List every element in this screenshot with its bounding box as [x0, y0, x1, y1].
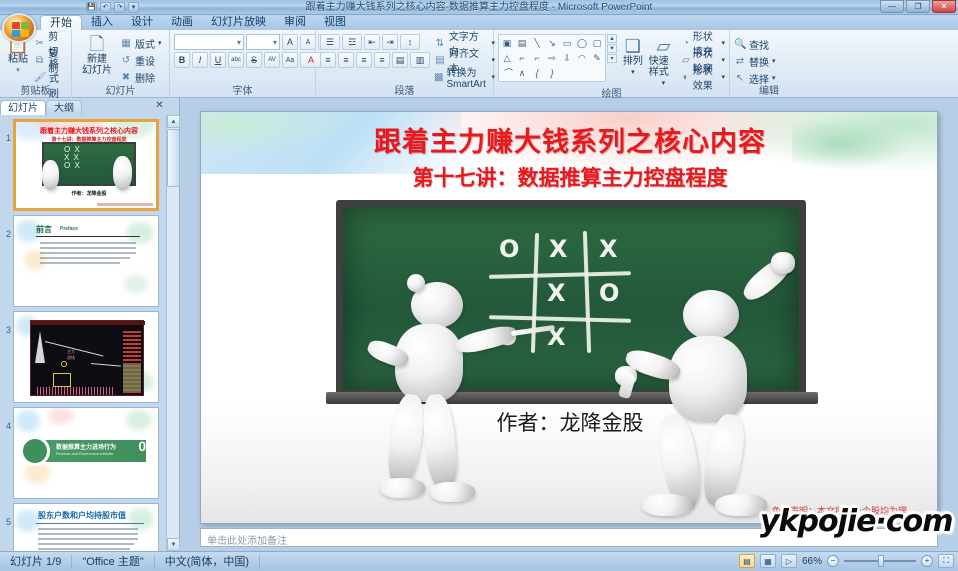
- list-item[interactable]: 1 跟着主力赚大钱系列之核心内容 第十七讲：数据推算主力控盘程度 O XX XO…: [0, 117, 167, 213]
- thumbnail-figure-left: [42, 160, 59, 190]
- shape-fill-icon: ◔: [682, 38, 690, 49]
- distribute-button[interactable]: ▤: [392, 52, 408, 68]
- thumbnail-number: 5: [2, 503, 13, 527]
- list-item[interactable]: 4 数据推算主力进场行为 Finance and Economics websi…: [0, 405, 167, 501]
- scrollbar-thumb[interactable]: [167, 129, 180, 187]
- quick-styles-button[interactable]: ▱ 快速样式 ▾: [649, 34, 678, 89]
- thumbnail-text-line: [40, 257, 130, 259]
- thumbnail-slide-5[interactable]: 股东户数和户均持股市值: [13, 503, 159, 551]
- bold-button[interactable]: B: [174, 52, 190, 68]
- scissors-icon: ✂: [34, 38, 45, 49]
- theme-name[interactable]: "Office 主题": [72, 555, 154, 569]
- shapes-scroll[interactable]: ▲ ▼ ▾: [607, 34, 617, 82]
- thumbnail-text-line: [40, 252, 136, 254]
- watermark-text: ykpojie·com: [760, 504, 953, 539]
- shape-oval-icon[interactable]: ◯: [575, 36, 589, 50]
- fit-to-window-button[interactable]: ⛶: [938, 554, 954, 568]
- font-name-combo[interactable]: ▾: [174, 34, 244, 50]
- shape-down-arrow-icon[interactable]: ⇩: [560, 51, 574, 65]
- view-slide-sorter-button[interactable]: ▦: [760, 554, 776, 568]
- thumbnail-title-2: Preface: [60, 226, 78, 232]
- bullets-button[interactable]: ☰: [320, 34, 340, 50]
- font-size-combo[interactable]: ▾: [246, 34, 280, 50]
- thumbnail-number: 3: [2, 311, 13, 335]
- shape-elbow2-icon[interactable]: ⌐: [530, 51, 544, 65]
- shape-effects-icon: ◐: [682, 72, 690, 83]
- shape-arrow-icon[interactable]: ↘: [545, 36, 559, 50]
- find-label: 查找: [749, 37, 769, 52]
- decor-blob: [126, 222, 154, 244]
- paragraph-group-label: 段落: [320, 86, 489, 98]
- decor-blob: [128, 508, 154, 530]
- thumbnail-title-2: Finance and Economics website: [56, 451, 113, 456]
- delete-slide-button[interactable]: ✖ 删除: [120, 69, 162, 85]
- replace-label: 替换: [749, 54, 769, 69]
- decor-blob: [48, 408, 74, 424]
- shape-cloud-icon[interactable]: ◠: [575, 51, 589, 65]
- view-normal-button[interactable]: ▤: [739, 554, 755, 568]
- thumbnail-number: 1: [2, 119, 13, 143]
- shape-triangle-icon[interactable]: △: [500, 51, 514, 65]
- shape-right-arrow-icon[interactable]: ⇨: [545, 51, 559, 65]
- thumbnail-slide-3[interactable]: 主力进场: [13, 311, 159, 403]
- mark-x-1: X: [549, 237, 568, 261]
- thumbnail-text-line: [40, 242, 136, 244]
- shape-elbow-icon[interactable]: ⌐: [515, 51, 529, 65]
- thumbnail-stock-chart: 主力进场: [30, 320, 144, 396]
- strikethrough-button[interactable]: S: [246, 52, 262, 68]
- list-item[interactable]: 3 主力进场: [0, 309, 167, 405]
- minimize-button[interactable]: —: [880, 0, 904, 13]
- pane-tab-outline[interactable]: 大纲: [46, 100, 82, 115]
- shape-rectangle-icon[interactable]: ▭: [560, 36, 574, 50]
- shapes-more-icon[interactable]: ▾: [607, 54, 617, 63]
- new-slide-label-1: 新建: [87, 54, 107, 65]
- shape-outline-icon: ▱: [682, 55, 690, 66]
- slides-group-label: 幻灯片: [76, 86, 165, 98]
- layout-label: 版式: [135, 36, 155, 51]
- align-text-icon: ▤: [434, 55, 446, 66]
- window-controls: — ❐ ✕: [880, 0, 956, 13]
- maximize-button[interactable]: ❐: [906, 0, 930, 13]
- language-indicator[interactable]: 中文(简体，中国): [155, 555, 260, 569]
- smartart-icon: ▩: [434, 72, 443, 83]
- ribbon-group-drawing: ▣ ▤ ╲ ↘ ▭ ◯ ▢ △ ⌐ ⌐ ⇨ ⇩ ◠ ✎ ⌒: [494, 30, 730, 98]
- underline-button[interactable]: U: [210, 52, 226, 68]
- character-right: [611, 262, 796, 517]
- select-label: 选择: [749, 71, 769, 86]
- new-slide-label-2: 幻灯片: [82, 65, 112, 76]
- status-bar: 幻灯片 1/9 "Office 主题" 中文(简体，中国) ▤ ▦ ▷ 66% …: [0, 551, 958, 571]
- office-logo-icon: [12, 22, 29, 37]
- quick-styles-icon: ▱: [656, 36, 670, 56]
- tab-insert[interactable]: 插入: [82, 15, 122, 30]
- mark-x-2: X: [547, 281, 566, 305]
- align-right-button[interactable]: ≡: [356, 52, 372, 68]
- thumbnail-title-1: 股东户数和户均持股市值: [38, 510, 126, 521]
- ribbon-group-editing: 🔍 查找 ⇄ 替换 ▾ ↖ 选择 ▾ 编辑: [730, 30, 808, 98]
- shape-left-brace-icon[interactable]: {: [530, 66, 544, 80]
- arrange-icon: ❏: [625, 36, 641, 56]
- thumbnail-list[interactable]: 1 跟着主力赚大钱系列之核心内容 第十七讲：数据推算主力控盘程度 O XX XO…: [0, 115, 167, 551]
- thumbnail-text-line: [38, 533, 138, 535]
- line-spacing-button[interactable]: ↕: [400, 34, 420, 50]
- pane-tab-slides[interactable]: 幻灯片: [0, 100, 46, 115]
- reset-label: 重设: [135, 53, 155, 68]
- shape-square-icon[interactable]: ▢: [590, 36, 604, 50]
- zoom-in-button[interactable]: +: [921, 555, 933, 567]
- ribbon-group-font: ▾ ▾ A A ✦ B I U abc S AV Aa A 字体: [170, 30, 316, 98]
- close-button[interactable]: ✕: [932, 0, 956, 13]
- slide-edit-area: 跟着主力赚大钱系列之核心内容 第十七讲：数据推算主力控盘程度 O X X X O…: [180, 98, 958, 551]
- reset-icon: ↺: [120, 55, 132, 66]
- scroll-up-icon[interactable]: ▲: [167, 115, 180, 128]
- reset-button[interactable]: ↺ 重设: [120, 52, 162, 68]
- paste-label: 粘贴: [8, 54, 28, 65]
- slides-pane: 幻灯片 大纲 ✕ 1 跟着主力赚大钱系列之核心内容 第十七讲：数据推算主力控盘程…: [0, 98, 180, 551]
- tab-design[interactable]: 设计: [122, 15, 162, 30]
- align-left-button[interactable]: ≡: [320, 52, 336, 68]
- layout-icon: ▦: [120, 38, 132, 49]
- window-title: 跟着主力赚大钱系列之核心内容-数据推算主力控盘程度 - Microsoft Po…: [0, 0, 958, 15]
- ribbon-group-slides: 🗋 新建 幻灯片 ▦ 版式 ▾ ↺ 重设 ✖: [72, 30, 170, 98]
- convert-smartart-button[interactable]: ▩ 转换为 SmartArt ▾: [434, 69, 495, 85]
- shape-right-brace-icon[interactable]: }: [545, 66, 559, 80]
- copy-icon: ⧉: [34, 55, 45, 66]
- pane-tab-strip: 幻灯片 大纲 ✕: [0, 98, 180, 115]
- clipboard-group-label: 剪贴板: [4, 86, 67, 98]
- layout-button[interactable]: ▦ 版式 ▾: [120, 35, 162, 51]
- ribbon-tabs: 开始 插入 设计 动画 幻灯片放映 审阅 视图: [40, 15, 355, 30]
- character-left: [351, 282, 511, 517]
- numbering-button[interactable]: ☲: [342, 34, 362, 50]
- text-direction-icon: ⇅: [434, 38, 446, 49]
- format-painter-button[interactable]: 🖌 格式刷: [34, 69, 67, 85]
- thumbnail-slide-2[interactable]: 前言 Preface: [13, 215, 159, 307]
- slide-title-main[interactable]: 跟着主力赚大钱系列之核心内容: [201, 120, 938, 159]
- replace-icon: ⇄: [734, 56, 746, 67]
- text-shadow-button[interactable]: abc: [228, 52, 244, 68]
- view-slideshow-button[interactable]: ▷: [781, 554, 797, 568]
- tab-slideshow[interactable]: 幻灯片放映: [202, 15, 275, 30]
- mark-x-3: X: [599, 237, 618, 261]
- shape-chevron-icon[interactable]: ∧: [515, 66, 529, 80]
- decor-blob: [126, 410, 152, 430]
- current-slide[interactable]: 跟着主力赚大钱系列之核心内容 第十七讲：数据推算主力控盘程度 O X X X O…: [200, 111, 938, 524]
- shapes-scroll-down-icon[interactable]: ▼: [607, 44, 617, 53]
- new-slide-icon: 🗋: [90, 34, 104, 54]
- columns-button[interactable]: ▥: [410, 52, 430, 68]
- gear-icon: [20, 436, 50, 466]
- thumbnail-figure-right: [113, 156, 132, 190]
- close-pane-icon[interactable]: ✕: [153, 99, 166, 112]
- find-button[interactable]: 🔍 查找: [734, 36, 776, 52]
- thumbnail-section-number: 01: [138, 439, 154, 453]
- thumbnail-slide-4[interactable]: 数据推算主力进场行为 Finance and Economics website…: [13, 407, 159, 499]
- shape-line-icon[interactable]: ╲: [530, 36, 544, 50]
- thumbnail-text-line: [38, 528, 138, 530]
- tab-review[interactable]: 审阅: [275, 15, 315, 30]
- italic-button[interactable]: I: [192, 52, 208, 68]
- thumbnail-disclaimer: [97, 203, 153, 206]
- thumbnail-text-line: [38, 538, 138, 540]
- thumbnail-blackboard-marks: O XX XO X: [64, 146, 81, 170]
- justify-button[interactable]: ≡: [374, 52, 390, 68]
- thumbnail-text-line: [38, 548, 130, 550]
- scroll-down-icon[interactable]: ▼: [167, 538, 180, 551]
- editing-group-label: 编辑: [734, 86, 804, 98]
- chevron-down-icon[interactable]: ▾: [128, 2, 139, 13]
- slide-author-text[interactable]: 作者：龙降金股: [201, 407, 938, 437]
- shape-rect-picture-icon[interactable]: ▣: [500, 36, 514, 50]
- zoom-out-button[interactable]: −: [827, 555, 839, 567]
- redo-icon[interactable]: ↷: [114, 2, 125, 13]
- title-bar: 跟着主力赚大钱系列之核心内容-数据推算主力控盘程度 - Microsoft Po…: [0, 0, 958, 15]
- find-icon: 🔍: [734, 39, 746, 50]
- shape-freeform-icon[interactable]: ✎: [590, 51, 604, 65]
- pane-scrollbar[interactable]: ▲ ▼: [166, 115, 179, 551]
- thumbnail-text-line: [38, 543, 134, 545]
- change-case-button[interactable]: Aa: [282, 52, 298, 68]
- thumbnail-text-line: [40, 262, 120, 264]
- office-button[interactable]: [2, 13, 36, 43]
- tab-animations[interactable]: 动画: [162, 15, 202, 30]
- status-bar-right: ▤ ▦ ▷ 66% − + ⛶: [739, 554, 954, 568]
- shape-effects-label: 形状效果: [693, 62, 719, 92]
- quick-access-toolbar: 💾 ↶ ↷ ▾: [86, 1, 139, 14]
- thumbnail-title-1: 前言: [36, 224, 52, 235]
- thumbnail-text-line: [40, 247, 136, 249]
- decor-blob: [16, 510, 40, 532]
- list-item[interactable]: 2 前言 Preface: [0, 213, 167, 309]
- slide-counter: 幻灯片 1/9: [0, 555, 72, 569]
- shape-effects-button[interactable]: ◐ 形状效果 ▾: [682, 69, 725, 85]
- shapes-scroll-up-icon[interactable]: ▲: [607, 34, 617, 43]
- undo-icon[interactable]: ↶: [100, 2, 111, 13]
- character-spacing-button[interactable]: AV: [264, 52, 280, 68]
- paintbrush-icon: 🖌: [34, 72, 46, 83]
- thumbnail-author: 作者：龙降金股: [16, 190, 159, 197]
- align-center-button[interactable]: ≡: [338, 52, 354, 68]
- decor-blob: [16, 410, 40, 432]
- save-icon[interactable]: 💾: [86, 2, 97, 13]
- quick-styles-label: 快速样式: [649, 56, 678, 78]
- shape-textbox-icon[interactable]: ▤: [515, 36, 529, 50]
- replace-button[interactable]: ⇄ 替换 ▾: [734, 53, 776, 69]
- thumbnail-number: 2: [2, 215, 13, 239]
- arrange-button[interactable]: ❏ 排列 ▾: [621, 34, 645, 78]
- tab-view[interactable]: 视图: [315, 15, 355, 30]
- list-item[interactable]: 5 股东户数和户均持股市值: [0, 501, 167, 551]
- new-slide-button[interactable]: 🗋 新建 幻灯片: [76, 32, 118, 76]
- thumbnail-title-1: 跟着主力赚大钱系列之核心内容: [16, 126, 159, 136]
- delete-icon: ✖: [120, 72, 132, 83]
- select-button[interactable]: ↖ 选择 ▾: [734, 70, 776, 86]
- ribbon-group-paragraph: ☰ ☲ ⇤ ⇥ ↕ ≡ ≡ ≡ ≡ ▤ ▥: [316, 30, 494, 98]
- mark-o-1: O: [499, 237, 519, 261]
- font-group-label: 字体: [174, 86, 311, 98]
- zoom-percent-label: 66%: [802, 556, 822, 567]
- zoom-slider[interactable]: [844, 554, 916, 568]
- shapes-gallery[interactable]: ▣ ▤ ╲ ↘ ▭ ◯ ▢ △ ⌐ ⌐ ⇨ ⇩ ◠ ✎ ⌒: [498, 34, 606, 82]
- thumbnail-slide-1[interactable]: 跟着主力赚大钱系列之核心内容 第十七讲：数据推算主力控盘程度 O XX XO X…: [13, 119, 159, 211]
- slide-title-sub[interactable]: 第十七讲：数据推算主力控盘程度: [201, 162, 938, 192]
- thumbnail-annotation: 主力进场: [67, 349, 77, 354]
- zoom-slider-handle[interactable]: [878, 555, 884, 567]
- thumbnail-number: 4: [2, 407, 13, 431]
- arrange-label: 排列: [623, 56, 643, 67]
- grow-font-icon[interactable]: A: [282, 34, 298, 50]
- decor-blob: [124, 274, 148, 294]
- ribbon: 📋 粘贴 ▾ ✂ 剪切 ⧉ 复制 🖌 格式刷: [0, 30, 958, 98]
- powerpoint-window: 跟着主力赚大钱系列之核心内容-数据推算主力控盘程度 - Microsoft Po…: [0, 0, 958, 571]
- delete-label: 删除: [135, 70, 155, 85]
- increase-indent-button[interactable]: ⇥: [382, 34, 398, 50]
- decrease-indent-button[interactable]: ⇤: [364, 34, 380, 50]
- shape-curve-icon[interactable]: ⌒: [500, 66, 514, 80]
- select-icon: ↖: [734, 73, 746, 84]
- shrink-font-icon[interactable]: A: [300, 34, 316, 50]
- thumbnail-title-1: 数据推算主力进场行为: [56, 442, 116, 451]
